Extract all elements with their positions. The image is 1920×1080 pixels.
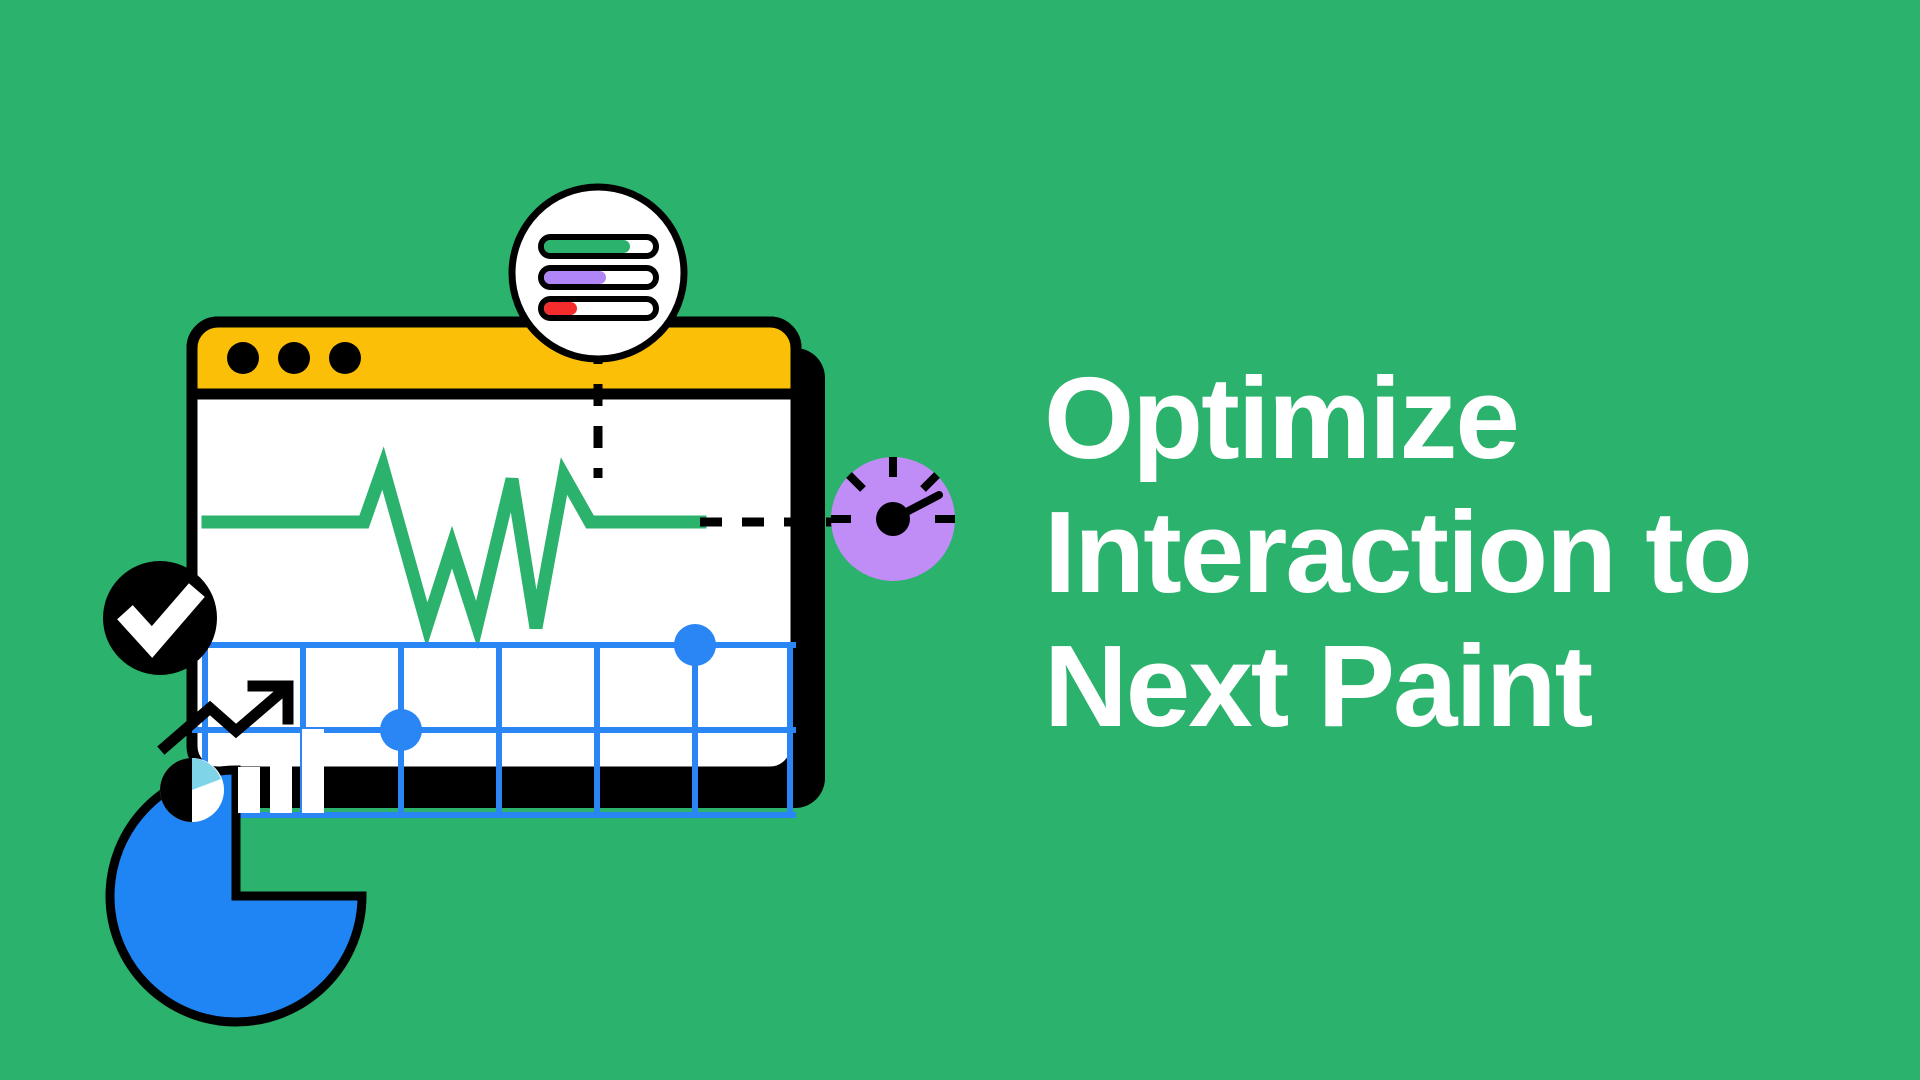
pie-chart-icon <box>160 758 224 822</box>
gauge-hub <box>876 502 910 536</box>
performance-dashboard-illustration <box>0 0 1020 1080</box>
page-title-line-2: Interaction to <box>1044 485 1874 619</box>
grid-point-b[interactable] <box>674 624 716 666</box>
progress-bar-red <box>541 299 656 318</box>
speed-gauge-badge[interactable] <box>831 457 955 581</box>
bar-2 <box>270 749 292 813</box>
hero-banner: Optimize Interaction to Next Paint <box>0 0 1920 1080</box>
page-title-line-1: Optimize <box>1044 351 1874 485</box>
window-dot-maximize-icon[interactable] <box>329 342 361 374</box>
progress-fill-3 <box>544 302 577 315</box>
bar-1 <box>238 767 260 813</box>
window-dot-close-icon[interactable] <box>227 342 259 374</box>
page-title: Optimize Interaction to Next Paint <box>1044 351 1874 753</box>
bar-3 <box>302 729 324 813</box>
grid-point-a[interactable] <box>380 709 422 751</box>
progress-fill-2 <box>544 271 606 284</box>
metrics-progress-badge[interactable] <box>512 187 684 359</box>
page-title-line-3: Next Paint <box>1044 619 1874 753</box>
progress-bar-green <box>541 237 656 256</box>
progress-fill-1 <box>544 240 630 253</box>
progress-bar-purple <box>541 268 656 287</box>
window-dot-minimize-icon[interactable] <box>278 342 310 374</box>
check-badge[interactable] <box>103 561 217 675</box>
